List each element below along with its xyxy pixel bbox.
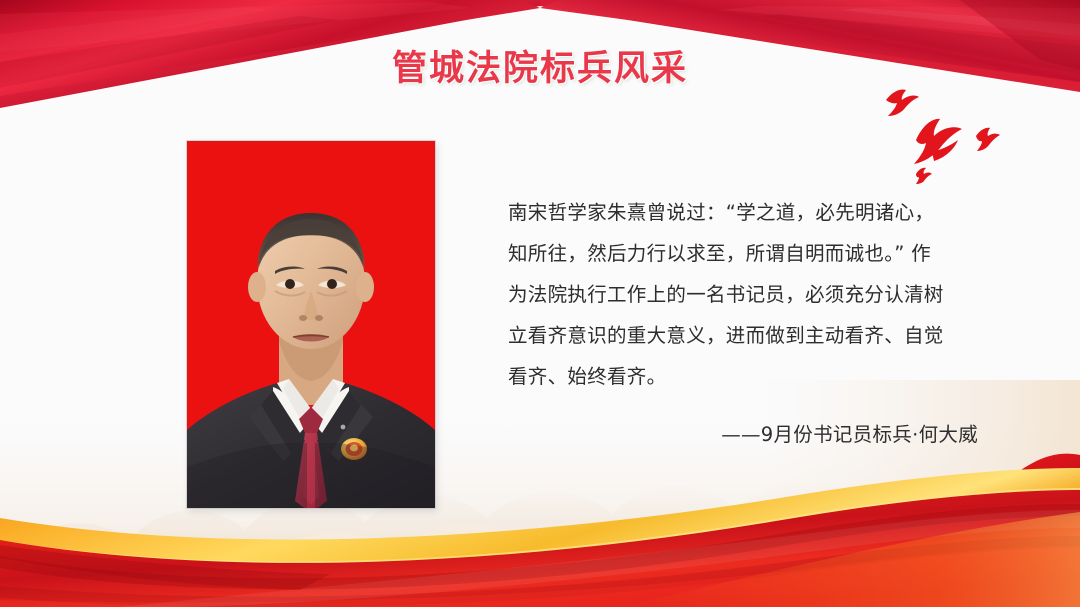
portrait-photo [187, 141, 435, 508]
quote-line: 立看齐意识的重大意义，进而做到主动看齐、自觉 [508, 315, 978, 356]
quote-line: 知所往，然后力行以求至，所谓自明而诚也。” 作 [508, 233, 978, 274]
quote-attribution: ——9月份书记员标兵·何大威 [508, 418, 978, 452]
slide-canvas: 管城法院标兵风采 [0, 0, 1080, 607]
quote-text-block: 南宋哲学家朱熹曾说过：“学之道，必先明诸心， 知所往，然后力行以求至，所谓自明而… [508, 192, 978, 452]
quote-line: 看齐、始终看齐。 [508, 356, 978, 397]
quote-line: 南宋哲学家朱熹曾说过：“学之道，必先明诸心， [508, 192, 978, 233]
page-title: 管城法院标兵风采 [392, 40, 688, 91]
flying-birds-decoration [872, 78, 1032, 188]
page-title-container: 管城法院标兵风采 [0, 40, 1080, 91]
quote-line: 为法院执行工作上的一名书记员，必须充分认清树 [508, 274, 978, 315]
